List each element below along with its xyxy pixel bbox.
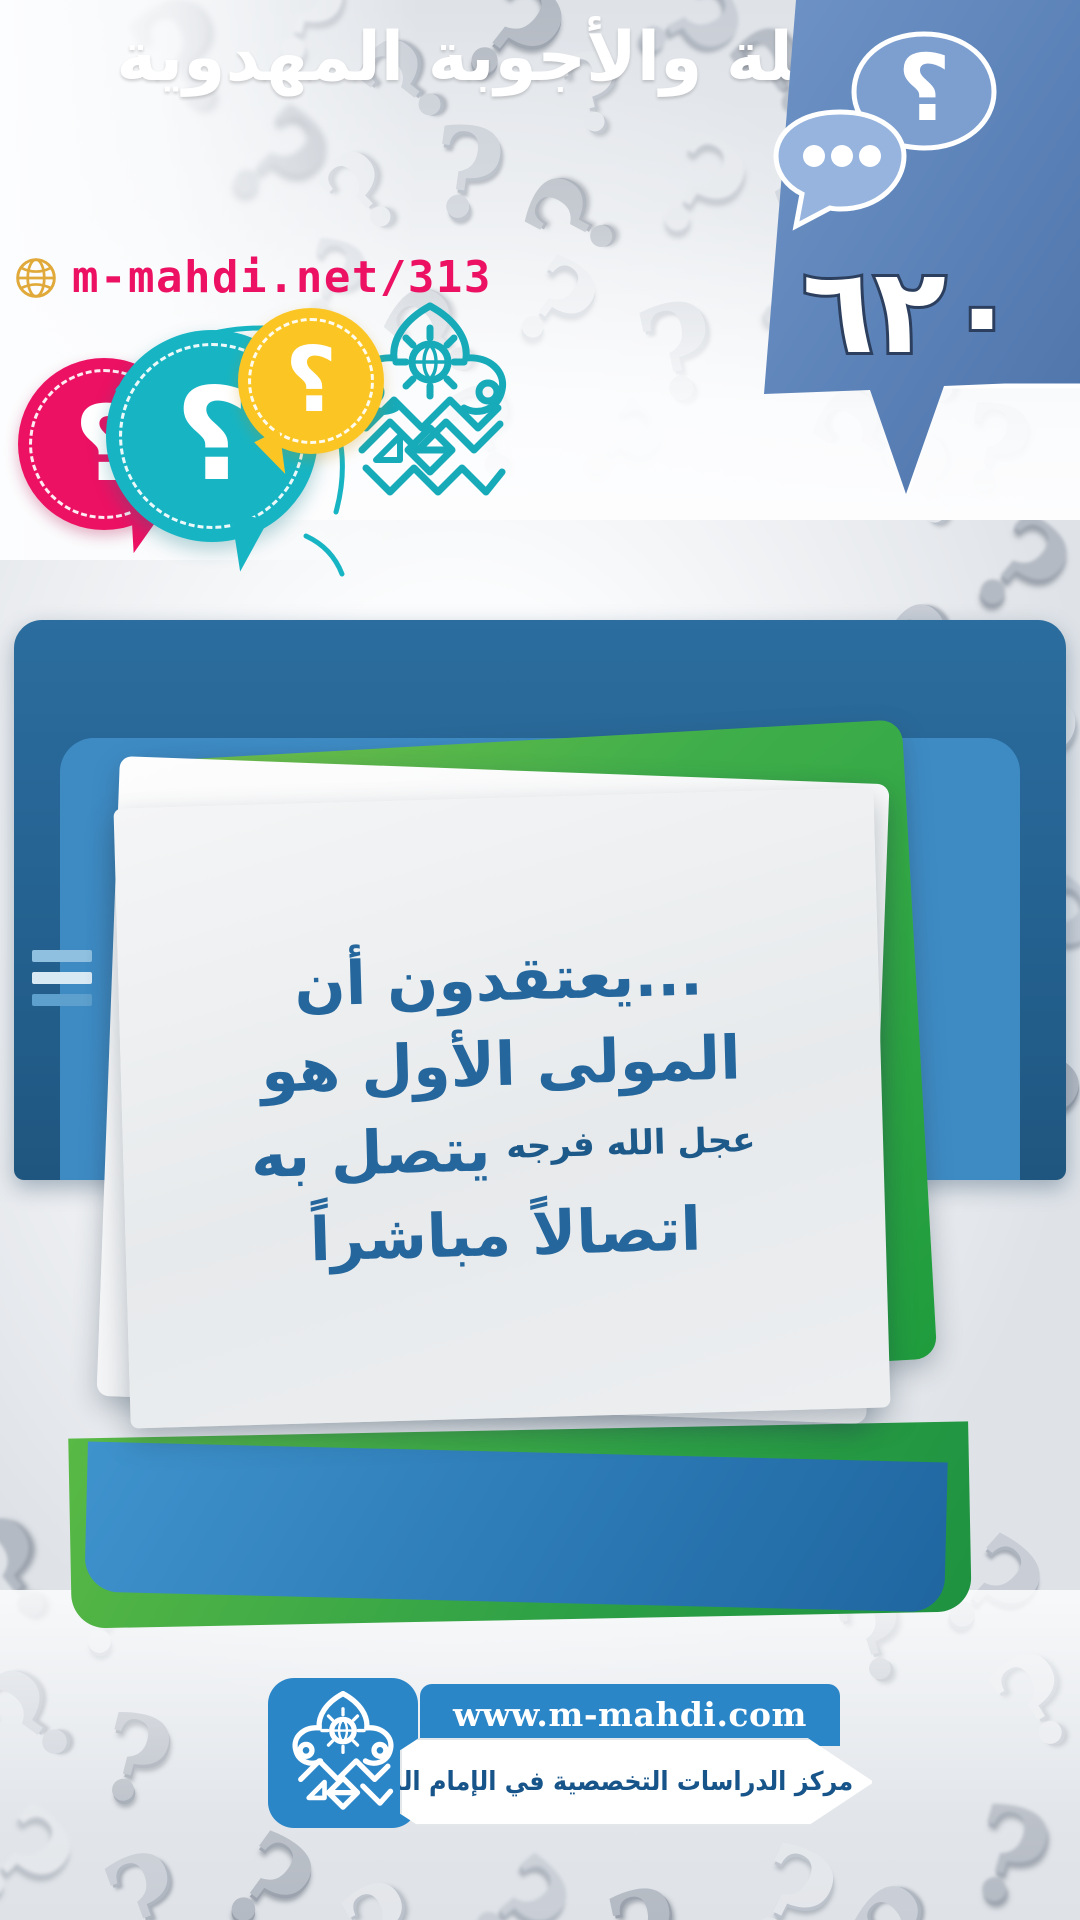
- header-stripes-decoration: [32, 950, 92, 1030]
- ribbon-blue: [84, 1442, 947, 1613]
- site-url-text[interactable]: m-mahdi.net/313: [72, 252, 492, 303]
- footer: www.m-mahdi.com مركز الدراسات التخصصية ف…: [0, 1668, 1080, 1858]
- footer-ribbon: www.m-mahdi.com مركز الدراسات التخصصية ف…: [400, 1684, 880, 1824]
- footer-website-tab[interactable]: www.m-mahdi.com: [420, 1684, 840, 1746]
- question-bubbles-cluster: ؟ ؟ ؟: [0, 300, 560, 520]
- footer-org-sheet: مركز الدراسات التخصصية في الإمام المهدي: [400, 1738, 874, 1826]
- question-number-badge: ؟ ٦٢٠: [730, 0, 1080, 514]
- question-number: ٦٢٠: [730, 252, 1080, 370]
- site-url-line[interactable]: m-mahdi.net/313: [14, 252, 492, 303]
- footer-website-text[interactable]: www.m-mahdi.com: [420, 1684, 840, 1746]
- globe-icon: [14, 256, 58, 300]
- answer-card-stack: ...يعتقدون أن المولى الأول هو عجل الله ف…: [100, 740, 980, 1440]
- question-bubble-yellow: ؟: [238, 308, 384, 454]
- mosque-globe-logo-icon: [283, 1687, 403, 1819]
- answer-card-text: ...يعتقدون أن المولى الأول هو عجل الله ف…: [113, 788, 890, 1429]
- footer-org-name: مركز الدراسات التخصصية في الإمام المهدي: [421, 1740, 853, 1824]
- honorific-calligraphy: عجل الله فرجه: [506, 1123, 756, 1164]
- svg-text:؟: ؟: [897, 35, 950, 142]
- answer-line-4: اتصالاً مباشراً: [159, 1183, 853, 1287]
- answer-line-3: يتصل به: [250, 1108, 492, 1200]
- poster-canvas: ? ? ? ? ? ? ? ? ? ? ? ? ? ? ? ? ? ? ? ? …: [0, 0, 1080, 1920]
- footer-logo[interactable]: [268, 1678, 418, 1828]
